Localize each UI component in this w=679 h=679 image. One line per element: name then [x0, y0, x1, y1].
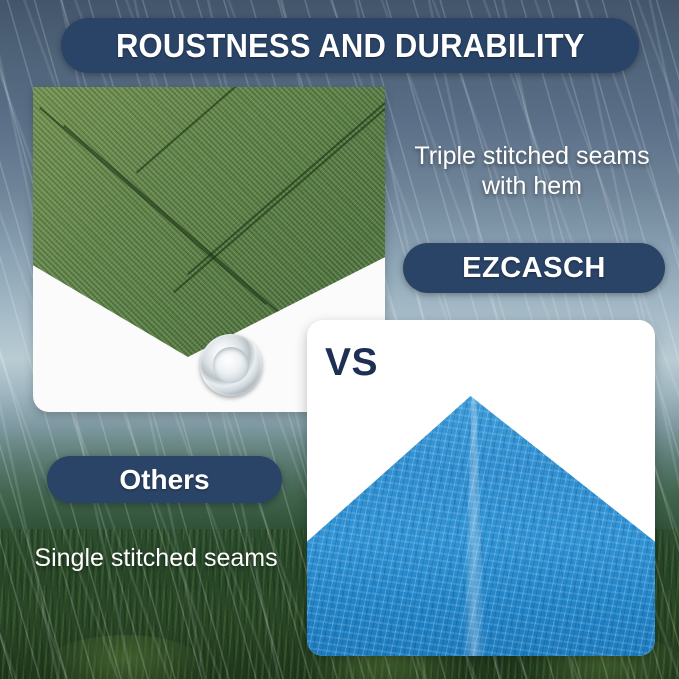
blue-tarp-image: [307, 396, 655, 656]
vs-comparison-card: VS: [307, 320, 655, 656]
infographic-canvas: ROUSTNESS AND DURABILITY Triple stitched…: [0, 0, 679, 679]
grommet-hole: [213, 347, 249, 383]
stitch-line: [187, 87, 385, 275]
grommet-icon: [200, 334, 262, 396]
others-badge-label: Others: [119, 464, 209, 496]
ezcasch-caption: Triple stitched seams with hem: [404, 142, 660, 201]
ezcasch-badge-label: EZCASCH: [462, 252, 606, 285]
ezcasch-brand-badge: EZCASCH: [403, 243, 665, 293]
tarp-ridge-highlight: [463, 396, 485, 656]
grass-tuft: [40, 635, 210, 679]
stitch-line: [136, 87, 318, 173]
stitch-line: [63, 125, 291, 323]
green-tarp-image: [33, 87, 385, 357]
title-banner: ROUSTNESS AND DURABILITY: [61, 18, 639, 73]
page-title: ROUSTNESS AND DURABILITY: [116, 27, 585, 65]
others-badge: Others: [47, 456, 282, 503]
others-caption: Single stitched seams: [32, 544, 280, 574]
stitch-line: [39, 107, 267, 305]
vs-label: VS: [325, 341, 378, 385]
